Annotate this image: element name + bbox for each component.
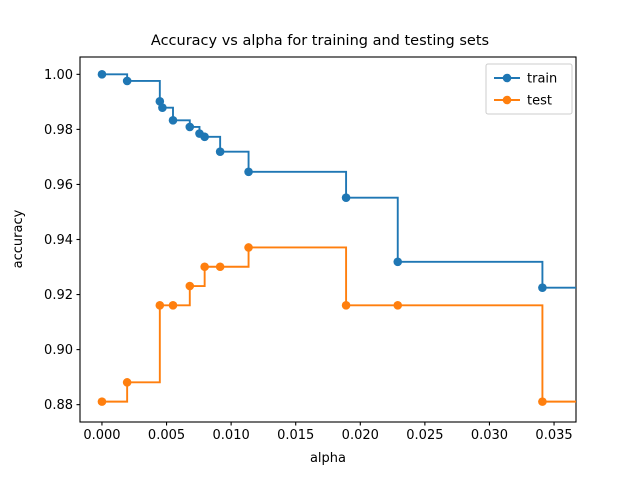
data-point-marker [342,193,351,202]
y-tick-label: 0.96 [44,178,73,193]
data-point-marker [342,301,351,310]
data-point-marker [216,147,225,156]
data-point-marker [244,243,253,252]
y-tick-label: 0.94 [44,233,73,248]
y-tick-label: 0.88 [44,398,73,413]
x-tick-label: 0.025 [406,428,443,443]
y-tick-label: 0.92 [44,288,73,303]
data-point-marker [185,123,194,132]
chart-legend[interactable]: traintest [486,64,572,114]
x-axis-label: alpha [310,451,346,466]
x-tick-label: 0.000 [83,428,120,443]
data-point-marker [123,378,132,387]
y-tick-label: 0.90 [44,343,73,358]
legend-marker-test [503,96,512,105]
data-point-marker [538,397,547,406]
data-point-marker [244,167,253,176]
matplotlib-figure: Accuracy vs alpha for training and testi… [0,0,640,480]
chart-canvas: Accuracy vs alpha for training and testi… [0,0,640,480]
y-tick-label: 1.00 [44,68,73,83]
data-point-marker [169,116,178,125]
x-tick-label: 0.035 [535,428,572,443]
y-axis-label: accuracy [11,209,26,268]
data-point-marker [123,77,132,86]
data-point-marker [200,262,209,271]
legend-marker-train [503,74,512,83]
data-point-marker [538,283,547,292]
data-point-marker [393,301,402,310]
y-tick-label: 0.98 [44,123,73,138]
data-point-marker [158,103,167,112]
chart-title: Accuracy vs alpha for training and testi… [151,33,489,49]
data-point-marker [216,262,225,271]
data-point-marker [185,282,194,291]
data-point-marker [98,397,107,406]
x-tick-label: 0.020 [342,428,379,443]
data-point-marker [98,70,107,79]
x-tick-label: 0.030 [471,428,508,443]
data-point-marker [169,301,178,310]
x-tick-label: 0.015 [277,428,314,443]
data-point-marker [393,257,402,266]
legend-label-test[interactable]: test [527,94,552,109]
data-point-marker [200,133,209,142]
data-point-marker [156,301,165,310]
legend-label-train[interactable]: train [527,72,557,87]
x-tick-label: 0.005 [148,428,185,443]
x-tick-label: 0.010 [213,428,250,443]
